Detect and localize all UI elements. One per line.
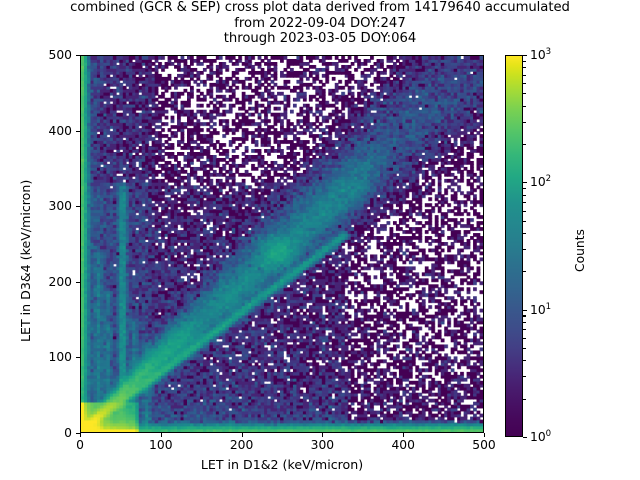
heatmap-canvas — [81, 56, 483, 432]
y-tick-mark — [76, 282, 80, 283]
y-tick-label-400: 400 — [49, 124, 72, 138]
y-axis-label: LET in D3&4 (keV/micron) — [18, 180, 33, 342]
colorbar-major-tick — [523, 437, 527, 438]
colorbar-minor-tick — [523, 348, 526, 349]
y-tick-mark — [76, 131, 80, 132]
chart-title-line-1: combined (GCR & SEP) cross plot data der… — [0, 0, 640, 16]
colorbar-minor-tick — [523, 93, 526, 94]
colorbar-minor-tick — [523, 144, 526, 145]
colorbar-label: Counts — [573, 229, 587, 272]
colorbar-minor-tick — [523, 249, 526, 250]
x-tick-label-100: 100 — [149, 438, 172, 452]
y-tick-label-200: 200 — [49, 275, 72, 289]
x-tick-label-300: 300 — [311, 438, 334, 452]
figure: combined (GCR & SEP) cross plot data der… — [0, 0, 640, 480]
x-tick-label-0: 0 — [76, 438, 84, 452]
colorbar-tick-label-1e1: 101 — [530, 303, 551, 317]
y-tick-mark — [76, 55, 80, 56]
y-tick-label-100: 100 — [49, 350, 72, 364]
colorbar-minor-tick — [523, 315, 526, 316]
colorbar-major-tick — [523, 310, 527, 311]
x-tick-mark — [80, 433, 81, 437]
x-tick-label-500: 500 — [472, 438, 495, 452]
colorbar-minor-tick — [523, 188, 526, 189]
colorbar-minor-tick — [523, 83, 526, 84]
colorbar-minor-tick — [523, 106, 526, 107]
x-tick-label-200: 200 — [230, 438, 253, 452]
colorbar-minor-tick — [523, 67, 526, 68]
y-tick-label-300: 300 — [49, 199, 72, 213]
y-tick-mark — [76, 433, 80, 434]
colorbar-tick-label-1e3: 103 — [530, 48, 551, 62]
colorbar-minor-tick — [523, 211, 526, 212]
colorbar-minor-tick — [523, 61, 526, 62]
x-tick-mark — [242, 433, 243, 437]
colorbar-minor-tick — [523, 338, 526, 339]
x-tick-mark — [403, 433, 404, 437]
colorbar-minor-tick — [523, 195, 526, 196]
colorbar-minor-tick — [523, 329, 526, 330]
colorbar-tick-label-1e0: 100 — [530, 430, 551, 444]
x-tick-mark — [322, 433, 323, 437]
x-tick-mark — [484, 433, 485, 437]
chart-title: combined (GCR & SEP) cross plot data der… — [0, 0, 640, 47]
colorbar-minor-tick — [523, 399, 526, 400]
x-tick-label-400: 400 — [391, 438, 414, 452]
y-tick-label-500: 500 — [49, 48, 72, 62]
colorbar-minor-tick — [523, 221, 526, 222]
colorbar-minor-tick — [523, 75, 526, 76]
colorbar-tick-label-1e2: 102 — [530, 175, 551, 189]
colorbar-major-tick — [523, 55, 527, 56]
colorbar-minor-tick — [523, 360, 526, 361]
colorbar-major-tick — [523, 182, 527, 183]
x-axis-label: LET in D1&2 (keV/micron) — [80, 457, 484, 472]
y-tick-label-0: 0 — [64, 426, 72, 440]
plot-area[interactable] — [80, 55, 484, 433]
chart-title-line-3: through 2023-03-05 DOY:064 — [0, 31, 640, 47]
colorbar-minor-tick — [523, 322, 526, 323]
colorbar-minor-tick — [523, 122, 526, 123]
y-tick-mark — [76, 357, 80, 358]
colorbar-minor-tick — [523, 376, 526, 377]
colorbar-minor-tick — [523, 233, 526, 234]
colorbar-minor-tick — [523, 202, 526, 203]
y-tick-mark — [76, 206, 80, 207]
x-tick-mark — [161, 433, 162, 437]
chart-title-line-2: from 2022-09-04 DOY:247 — [0, 16, 640, 32]
colorbar-minor-tick — [523, 271, 526, 272]
colorbar[interactable] — [505, 55, 523, 437]
